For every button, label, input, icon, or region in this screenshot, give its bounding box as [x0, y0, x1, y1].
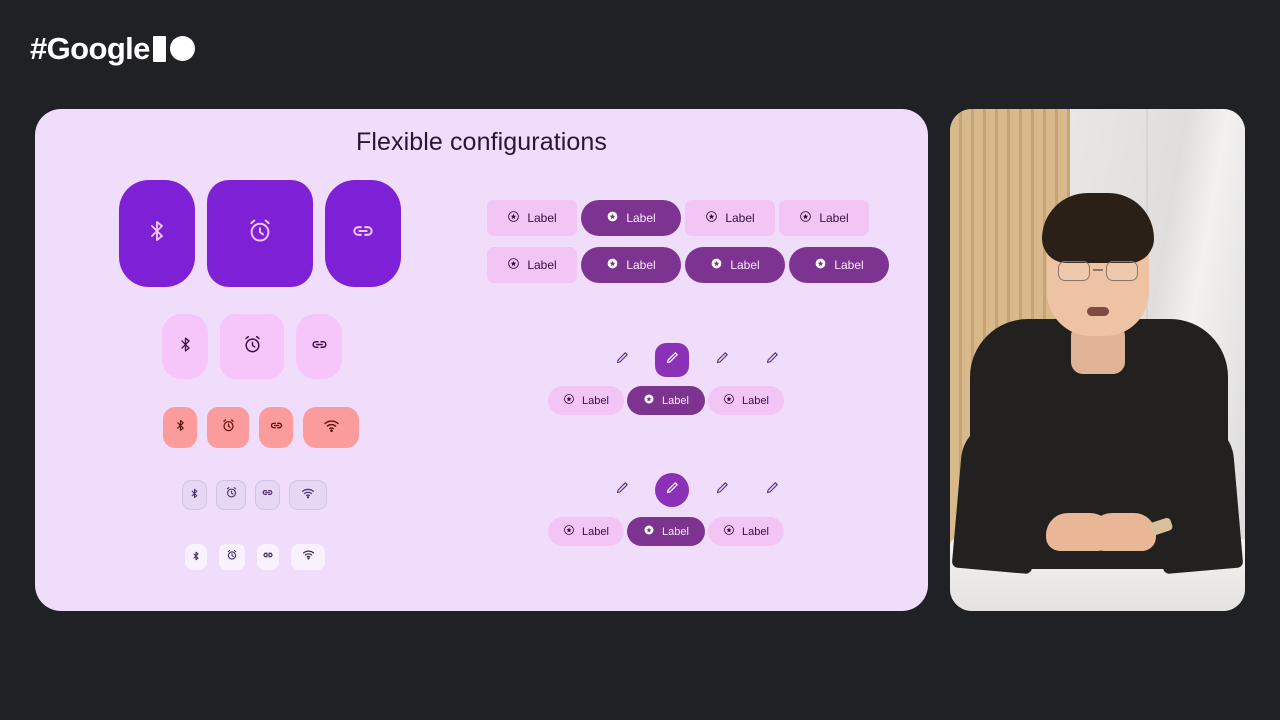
chip-label[interactable]: Label [487, 200, 577, 236]
glasses-lens-left [1058, 261, 1090, 281]
pencil-icon [665, 350, 680, 370]
chip-label-selected[interactable]: Label [581, 247, 681, 283]
chip-label-text: Label [527, 211, 556, 225]
pencil-icon [715, 480, 730, 500]
chip-label-selected[interactable]: Label [685, 247, 785, 283]
star-filled-icon [643, 524, 655, 539]
tile-bluetooth[interactable] [163, 407, 197, 448]
chip-label-text: Label [626, 258, 655, 272]
chip-label[interactable]: Label [487, 247, 577, 283]
chip-label-text: Label [819, 211, 848, 225]
tile-wifi[interactable] [303, 407, 359, 448]
logo-letter-o-icon [170, 36, 195, 61]
tile-bluetooth[interactable] [182, 480, 207, 510]
tile-alarm-clock[interactable] [219, 544, 245, 570]
presenter-video[interactable] [950, 109, 1245, 611]
bluetooth-icon [189, 486, 200, 504]
pencil-button[interactable] [605, 473, 639, 507]
page-title: Flexible configurations [35, 128, 928, 157]
chip-label[interactable]: Label [548, 517, 624, 546]
tile-alarm-clock[interactable] [216, 480, 246, 510]
star-outline-icon [563, 393, 575, 408]
pencil-button-selected[interactable] [655, 343, 689, 377]
google-io-logo: #Google [30, 33, 195, 64]
alarm-clock-icon [221, 418, 236, 438]
chip-row-second: Label Label Label [487, 247, 889, 283]
alarm-clock-icon [225, 486, 238, 504]
alarm-clock-icon [246, 217, 274, 250]
presenter-hair [1042, 193, 1154, 263]
star-outline-icon [723, 524, 735, 539]
pencil-icon [765, 350, 780, 370]
wifi-icon [301, 486, 315, 505]
chip-label-text: Label [626, 211, 655, 225]
logo-hash-google: #Google [30, 33, 150, 64]
chip-row-bottom: Label Label Label [548, 517, 784, 546]
tile-link[interactable] [325, 180, 401, 287]
presenter-hand-right [1090, 513, 1156, 551]
bluetooth-icon [191, 548, 201, 566]
tile-wifi[interactable] [289, 480, 327, 510]
tile-bluetooth[interactable] [119, 180, 195, 287]
chip-label[interactable]: Label [548, 386, 624, 415]
alarm-clock-icon [242, 334, 263, 360]
pencil-icon [615, 350, 630, 370]
icon-group-large-purple-tiles [119, 180, 401, 287]
chip-label-text: Label [527, 258, 556, 272]
chip-label-selected[interactable]: Label [627, 517, 705, 546]
presenter-mouth [1087, 307, 1109, 316]
link-icon [310, 335, 329, 359]
chip-label-text: Label [834, 258, 863, 272]
icon-group-outlined-tiles [182, 480, 327, 510]
star-outline-icon [507, 257, 520, 273]
pencil-button-selected[interactable] [655, 473, 689, 507]
star-outline-icon [507, 210, 520, 226]
bluetooth-icon [177, 336, 194, 358]
pencil-button[interactable] [705, 343, 739, 377]
pencil-button[interactable] [605, 343, 639, 377]
chip-label-selected[interactable]: Label [789, 247, 889, 283]
tile-link[interactable] [296, 314, 342, 379]
tile-link[interactable] [255, 480, 280, 510]
pencil-icon [765, 480, 780, 500]
glasses-bridge [1093, 269, 1103, 271]
icon-group-ghost-tiles [185, 544, 325, 570]
star-outline-icon [799, 210, 812, 226]
chip-label-selected[interactable]: Label [627, 386, 705, 415]
tile-alarm-clock[interactable] [207, 407, 249, 448]
chip-label-text: Label [582, 395, 609, 407]
tile-wifi[interactable] [291, 544, 325, 570]
slide-stage: #Google Flexible configurations [0, 0, 1280, 720]
chip-label[interactable]: Label [708, 386, 784, 415]
chip-label-text: Label [662, 395, 689, 407]
tile-bluetooth[interactable] [162, 314, 208, 379]
link-icon [269, 418, 284, 438]
chip-label[interactable]: Label [708, 517, 784, 546]
pencil-icon [615, 480, 630, 500]
glasses-lens-right [1106, 261, 1138, 281]
star-filled-icon [643, 393, 655, 408]
icon-group-salmon-tiles [163, 407, 359, 448]
link-icon [261, 486, 274, 504]
chip-label[interactable]: Label [779, 200, 869, 236]
alarm-clock-icon [226, 548, 238, 566]
chip-label[interactable]: Label [685, 200, 775, 236]
logo-letter-i-icon [153, 36, 166, 62]
star-filled-icon [710, 257, 723, 273]
pencil-row-square-selected [605, 343, 789, 377]
chip-label-selected[interactable]: Label [581, 200, 681, 236]
slide-card: Flexible configurations [35, 109, 928, 611]
chip-label-text: Label [662, 526, 689, 538]
icon-group-medium-pink-tiles [162, 314, 342, 379]
chip-label-text: Label [742, 526, 769, 538]
tile-alarm-clock[interactable] [207, 180, 313, 287]
star-filled-icon [606, 257, 619, 273]
star-outline-icon [723, 393, 735, 408]
star-filled-icon [814, 257, 827, 273]
link-icon [262, 548, 274, 566]
bluetooth-icon [174, 419, 187, 437]
star-filled-icon [606, 210, 619, 226]
tile-link[interactable] [257, 544, 279, 570]
pencil-button[interactable] [755, 343, 789, 377]
pencil-icon [715, 350, 730, 370]
pencil-row-round-selected [605, 473, 789, 507]
wifi-icon [323, 417, 340, 439]
tile-bluetooth[interactable] [185, 544, 207, 570]
chip-label-text: Label [582, 526, 609, 538]
link-icon [350, 218, 376, 249]
chip-row-top: Label Label Label [487, 200, 869, 236]
pencil-button[interactable] [705, 473, 739, 507]
pencil-icon [665, 480, 680, 500]
chip-row-middle: Label Label Label [548, 386, 784, 415]
chip-label-text: Label [725, 211, 754, 225]
tile-link[interactable] [259, 407, 293, 448]
star-outline-icon [563, 524, 575, 539]
pencil-button[interactable] [755, 473, 789, 507]
wifi-icon [302, 548, 315, 566]
star-outline-icon [705, 210, 718, 226]
chip-label-text: Label [742, 395, 769, 407]
bluetooth-icon [145, 219, 169, 248]
tile-alarm-clock[interactable] [220, 314, 284, 379]
chip-label-text: Label [730, 258, 759, 272]
